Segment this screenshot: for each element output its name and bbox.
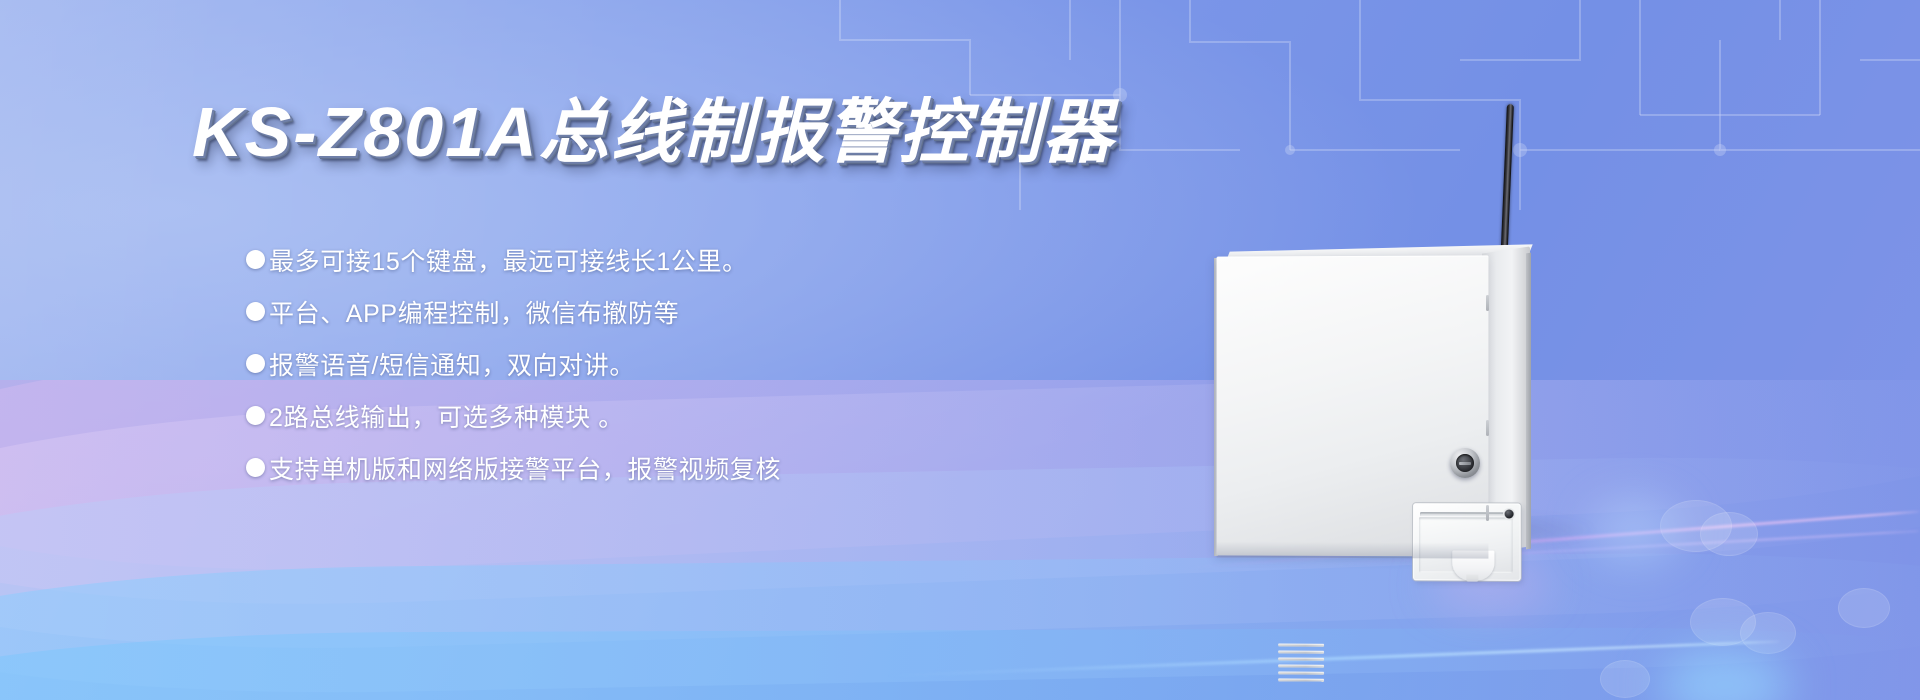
feature-text: 报警语音/短信通知，双向对讲。 bbox=[269, 346, 635, 382]
louver-slot bbox=[1278, 643, 1324, 646]
paper-slot bbox=[1420, 512, 1512, 516]
filled-circle-bullet-icon bbox=[246, 302, 265, 321]
feature-text: 最多可接15个键盘，最远可接线长1公里。 bbox=[269, 242, 748, 278]
enclosure-side-edge bbox=[1526, 253, 1531, 550]
feature-text: 支持单机版和网络版接警平台，报警视频复核 bbox=[269, 450, 781, 486]
list-item: 最多可接15个键盘，最远可接线长1公里。 bbox=[246, 238, 1066, 281]
hinge-mark-top bbox=[1486, 295, 1489, 311]
bay-tab-notch bbox=[1466, 575, 1478, 582]
list-item: 平台、APP编程控制，微信布撤防等 bbox=[246, 290, 1066, 333]
ventilation-louvers bbox=[1278, 643, 1324, 681]
hinge-mark-mid bbox=[1486, 420, 1489, 436]
product-banner: KS-Z801A总线制报警控制器 最多可接15个键盘，最远可接线长1公里。 平台… bbox=[0, 0, 1920, 700]
filled-circle-bullet-icon bbox=[246, 250, 265, 269]
filled-circle-bullet-icon bbox=[246, 406, 265, 425]
louver-slot bbox=[1278, 650, 1324, 653]
louver-slot bbox=[1278, 671, 1324, 674]
feature-text: 2路总线输出，可选多种模块 。 bbox=[269, 398, 624, 434]
key-lock-icon bbox=[1450, 448, 1480, 478]
louver-slot bbox=[1278, 657, 1324, 660]
louver-slot bbox=[1278, 664, 1324, 667]
bokeh-circle-6 bbox=[1838, 588, 1890, 628]
feature-list: 最多可接15个键盘，最远可接线长1公里。 平台、APP编程控制，微信布撤防等 报… bbox=[246, 238, 1066, 498]
status-led-icon bbox=[1505, 509, 1514, 518]
enclosure-front-door bbox=[1217, 255, 1489, 556]
door-bottom-shade bbox=[1217, 541, 1489, 558]
hinge-mark-bottom bbox=[1486, 505, 1489, 521]
list-item: 2路总线输出，可选多种模块 。 bbox=[246, 394, 1066, 437]
feature-text: 平台、APP编程控制，微信布撤防等 bbox=[269, 294, 679, 330]
product-image bbox=[1190, 90, 1750, 670]
lock-core bbox=[1456, 454, 1474, 472]
key-slot bbox=[1459, 462, 1471, 465]
louver-slot bbox=[1278, 678, 1324, 681]
page-title: KS-Z801A总线制报警控制器 bbox=[192, 76, 1115, 177]
filled-circle-bullet-icon bbox=[246, 354, 265, 373]
list-item: 报警语音/短信通知，双向对讲。 bbox=[246, 342, 1066, 385]
list-item: 支持单机版和网络版接警平台，报警视频复核 bbox=[246, 446, 1066, 489]
filled-circle-bullet-icon bbox=[246, 458, 265, 477]
